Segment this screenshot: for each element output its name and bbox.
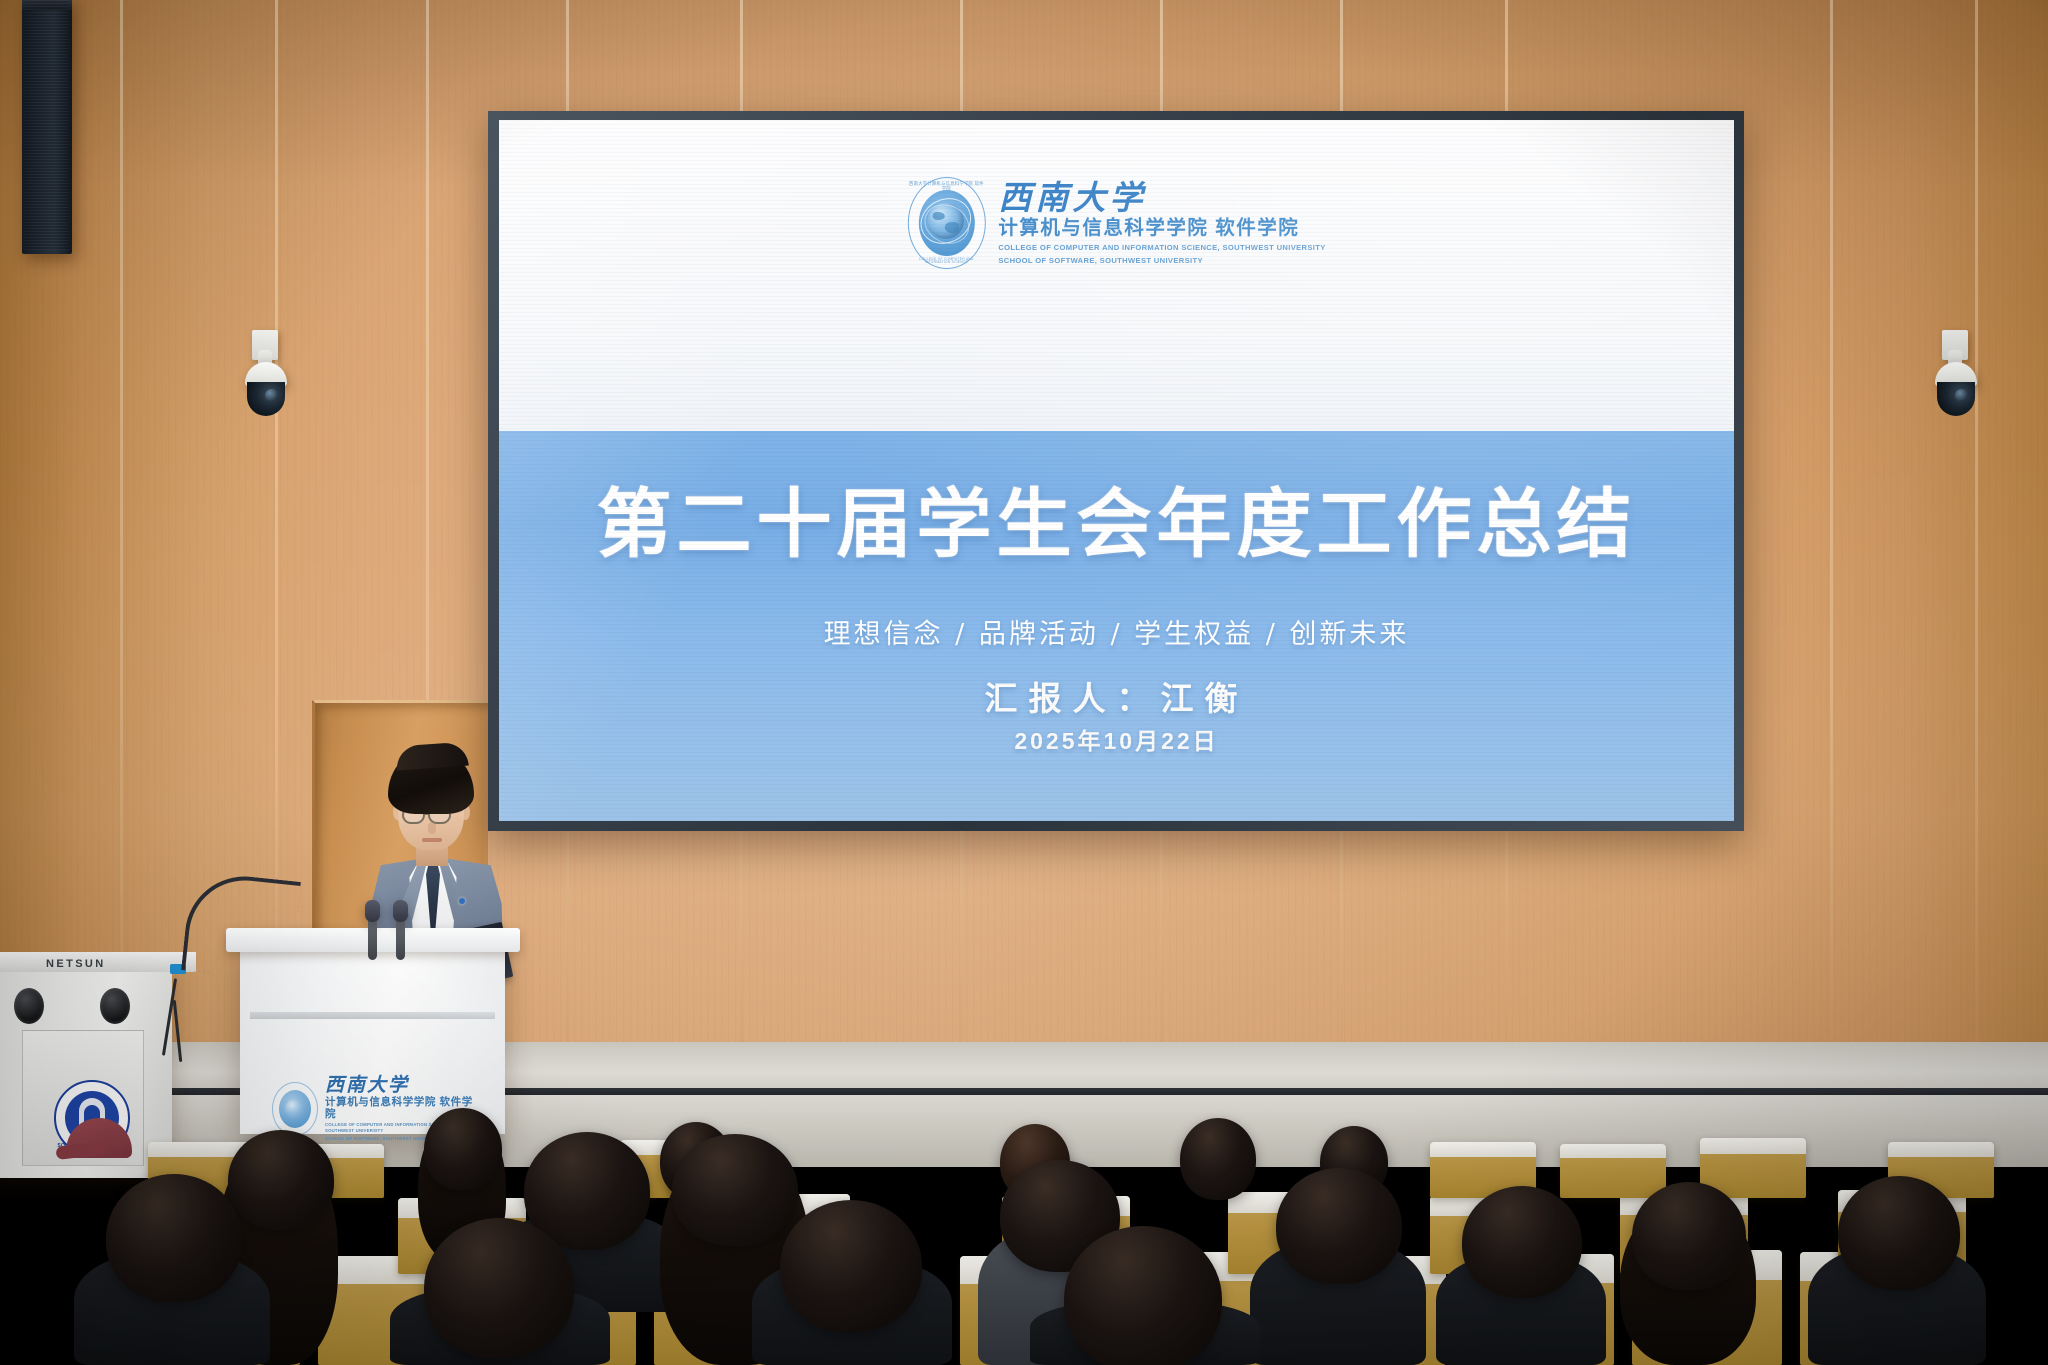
wall-panel-seam: [1975, 0, 1978, 1160]
column-speaker-icon: [22, 0, 72, 254]
slide-presenter-line: 汇报人：江衡: [499, 672, 1734, 720]
projection-screen-frame: 西南大学计算机与信息科学学院 软件学院 COLLEGE OF COMPUTER …: [488, 111, 1744, 831]
seal-arc-text-top: 西南大学计算机与信息科学学院 软件学院: [907, 182, 985, 191]
slide-date-line: 2025年10月22日: [499, 722, 1734, 756]
seat-headrest: [1430, 1142, 1536, 1157]
audience-head: [424, 1218, 574, 1358]
audience-head: [424, 1108, 502, 1190]
slide-main-title: 第二十届学生会年度工作总结: [499, 487, 1734, 562]
audience-head: [672, 1134, 798, 1246]
slide-tagline: 理想信念 / 品牌活动 / 学生权益 / 创新未来: [499, 612, 1734, 651]
presentation-slide: 西南大学计算机与信息科学学院 软件学院 COLLEGE OF COMPUTER …: [499, 120, 1734, 821]
audience-head: [780, 1200, 922, 1332]
lapel-pin-icon: [459, 898, 465, 904]
nose: [428, 822, 436, 834]
seal-arc-text-bottom: COLLEGE OF COMPUTER AND INFORMATION SCIE…: [907, 258, 985, 265]
college-seal-icon: 西南大学计算机与信息科学学院 软件学院 COLLEGE OF COMPUTER …: [907, 177, 985, 269]
audience-head: [1180, 1118, 1256, 1200]
slide-top-white-area: [499, 120, 1734, 431]
audience-head: [1632, 1182, 1746, 1290]
audience-head: [228, 1130, 334, 1230]
logo-english-line-1: COLLEGE OF COMPUTER AND INFORMATION SCIE…: [998, 242, 1325, 253]
microphone-head: [365, 900, 380, 922]
logo-university-name: 西南大学: [998, 181, 1325, 216]
mouth: [422, 838, 442, 842]
logo-english-line-2: SCHOOL OF SOFTWARE, SOUTHWEST UNIVERSITY: [998, 255, 1325, 266]
lectern-knob-left[interactable]: [14, 988, 44, 1024]
slide-institution-logo: 西南大学计算机与信息科学学院 软件学院 COLLEGE OF COMPUTER …: [907, 177, 1325, 269]
lectern-knob-right[interactable]: [100, 988, 130, 1024]
projection-screen-surface: 西南大学计算机与信息科学学院 软件学院 COLLEGE OF COMPUTER …: [499, 120, 1734, 821]
audience-head: [1462, 1186, 1582, 1298]
seat: [1560, 1144, 1666, 1198]
podium-seal-globe-icon: [285, 1099, 305, 1119]
podium-microphone-left-icon[interactable]: [368, 916, 377, 960]
seat-headrest: [1888, 1142, 1994, 1157]
auditorium-scene: 西南大学计算机与信息科学学院 软件学院 COLLEGE OF COMPUTER …: [0, 0, 2048, 1365]
audience-head: [1838, 1176, 1960, 1290]
podium-seal-icon: [272, 1082, 318, 1136]
audience-head: [106, 1174, 242, 1302]
seat-headrest: [1700, 1138, 1806, 1154]
audience-head: [1064, 1226, 1222, 1365]
hair: [388, 748, 474, 814]
seat-headrest: [1560, 1144, 1666, 1158]
audience-head: [1276, 1168, 1402, 1284]
speaker-cap: [22, 0, 72, 10]
lectern-brand-label: NETSUN: [46, 958, 106, 970]
podium-microphone-right-icon[interactable]: [396, 916, 405, 960]
podium-university-name: 西南大学: [325, 1076, 477, 1095]
logo-college-name: 计算机与信息科学学院 软件学院: [998, 217, 1325, 239]
wall-panel-seam: [1830, 0, 1833, 1160]
microphone-head: [393, 900, 408, 922]
podium-trim: [250, 1012, 495, 1019]
logo-text-block: 西南大学 计算机与信息科学学院 软件学院 COLLEGE OF COMPUTER…: [998, 181, 1325, 267]
